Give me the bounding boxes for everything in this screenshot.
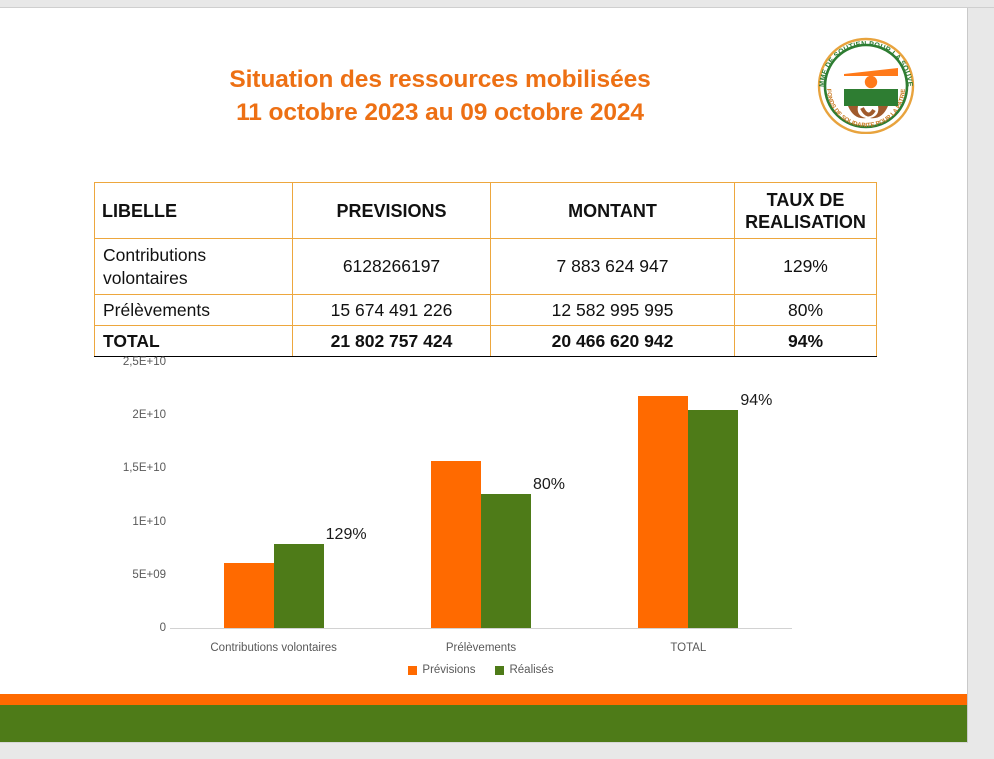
cell-previsions: 6128266197	[293, 239, 491, 295]
legend-swatch-icon	[408, 666, 417, 675]
cell-previsions: 15 674 491 226	[293, 295, 491, 326]
page-title-line-2: 11 octobre 2023 au 09 octobre 2024	[0, 96, 880, 129]
bar-pair	[431, 362, 531, 628]
y-axis: 05E+091E+101,5E+102E+102,5E+10	[94, 362, 166, 628]
table-header: LIBELLE PREVISIONS MONTANT TAUX DE REALI…	[95, 183, 877, 239]
table-header-row: LIBELLE PREVISIONS MONTANT TAUX DE REALI…	[95, 183, 877, 239]
page-title-line-1: Situation des ressources mobilisées	[0, 63, 880, 96]
x-axis-tick-label: Prélèvements	[446, 642, 516, 654]
slide-canvas: Situation des ressources mobilisées 11 o…	[0, 0, 994, 759]
bar-group: 94%TOTAL	[585, 362, 792, 628]
bar-data-label: 129%	[326, 526, 367, 544]
column-header-montant: MONTANT	[491, 183, 735, 239]
y-axis-tick-label: 2E+10	[96, 409, 166, 421]
cell-montant: 7 883 624 947	[491, 239, 735, 295]
cell-montant: 12 582 995 995	[491, 295, 735, 326]
organization-logo: PROGRAMME DE SOUTIEN POUR LA SOUVERAINET…	[810, 36, 922, 134]
bar-previsions[interactable]	[431, 461, 481, 628]
chart-legend: Prévisions Réalisés	[170, 664, 792, 676]
bar-group: 80%Prélèvements	[377, 362, 584, 628]
y-axis-tick-label: 2,5E+10	[96, 356, 166, 368]
y-axis-tick-label: 5E+09	[96, 569, 166, 581]
footer-accent-band-orange	[0, 694, 968, 705]
cell-libelle: Prélèvements	[95, 295, 293, 326]
bar-previsions[interactable]	[638, 396, 688, 628]
table-body: Contributions volontaires 6128266197 7 8…	[95, 239, 877, 357]
table-row-total: TOTAL 21 802 757 424 20 466 620 942 94%	[95, 326, 877, 357]
bar-realises[interactable]	[274, 544, 324, 628]
cell-montant: 20 466 620 942	[491, 326, 735, 357]
y-axis-tick-label: 0	[96, 622, 166, 634]
x-axis-tick-label: TOTAL	[670, 642, 706, 654]
x-axis-tick-label: Contributions volontaires	[210, 642, 337, 654]
bar-data-label: 80%	[533, 476, 565, 494]
cell-libelle: Contributions volontaires	[95, 239, 293, 295]
cell-taux: 129%	[735, 239, 877, 295]
x-axis-line	[170, 628, 792, 629]
window-top-gutter	[0, 0, 994, 8]
legend-item-previsions: Prévisions	[408, 664, 475, 676]
column-header-libelle: LIBELLE	[95, 183, 293, 239]
column-header-previsions: PREVISIONS	[293, 183, 491, 239]
bar-realises[interactable]	[481, 494, 531, 628]
table-row: Prélèvements 15 674 491 226 12 582 995 9…	[95, 295, 877, 326]
column-header-taux-line-2: REALISATION	[745, 212, 866, 232]
column-header-taux-line-1: TAUX DE	[767, 190, 845, 210]
y-axis-tick-label: 1,5E+10	[96, 462, 166, 474]
footer-band-green	[0, 705, 968, 743]
cell-taux: 80%	[735, 295, 877, 326]
slide-surface: Situation des ressources mobilisées 11 o…	[0, 8, 968, 743]
bar-pair	[638, 362, 738, 628]
legend-label: Prévisions	[422, 664, 475, 676]
resources-table: LIBELLE PREVISIONS MONTANT TAUX DE REALI…	[94, 182, 877, 357]
bar-previsions[interactable]	[224, 563, 274, 628]
column-header-taux-de-realisation: TAUX DE REALISATION	[735, 183, 877, 239]
plot-area: 129%Contributions volontaires80%Prélèvem…	[170, 362, 792, 628]
resources-bar-chart: 05E+091E+101,5E+102E+102,5E+10 129%Contr…	[94, 356, 884, 686]
cell-taux: 94%	[735, 326, 877, 357]
legend-swatch-icon	[495, 666, 504, 675]
cell-libelle: TOTAL	[95, 326, 293, 357]
bar-data-label: 94%	[740, 392, 772, 410]
bar-group: 129%Contributions volontaires	[170, 362, 377, 628]
table-row: Contributions volontaires 6128266197 7 8…	[95, 239, 877, 295]
legend-label: Réalisés	[509, 664, 553, 676]
bar-pair	[224, 362, 324, 628]
y-axis-tick-label: 1E+10	[96, 516, 166, 528]
legend-item-realises: Réalisés	[495, 664, 553, 676]
page-title: Situation des ressources mobilisées 11 o…	[0, 63, 880, 129]
bar-realises[interactable]	[688, 410, 738, 628]
cell-previsions: 21 802 757 424	[293, 326, 491, 357]
